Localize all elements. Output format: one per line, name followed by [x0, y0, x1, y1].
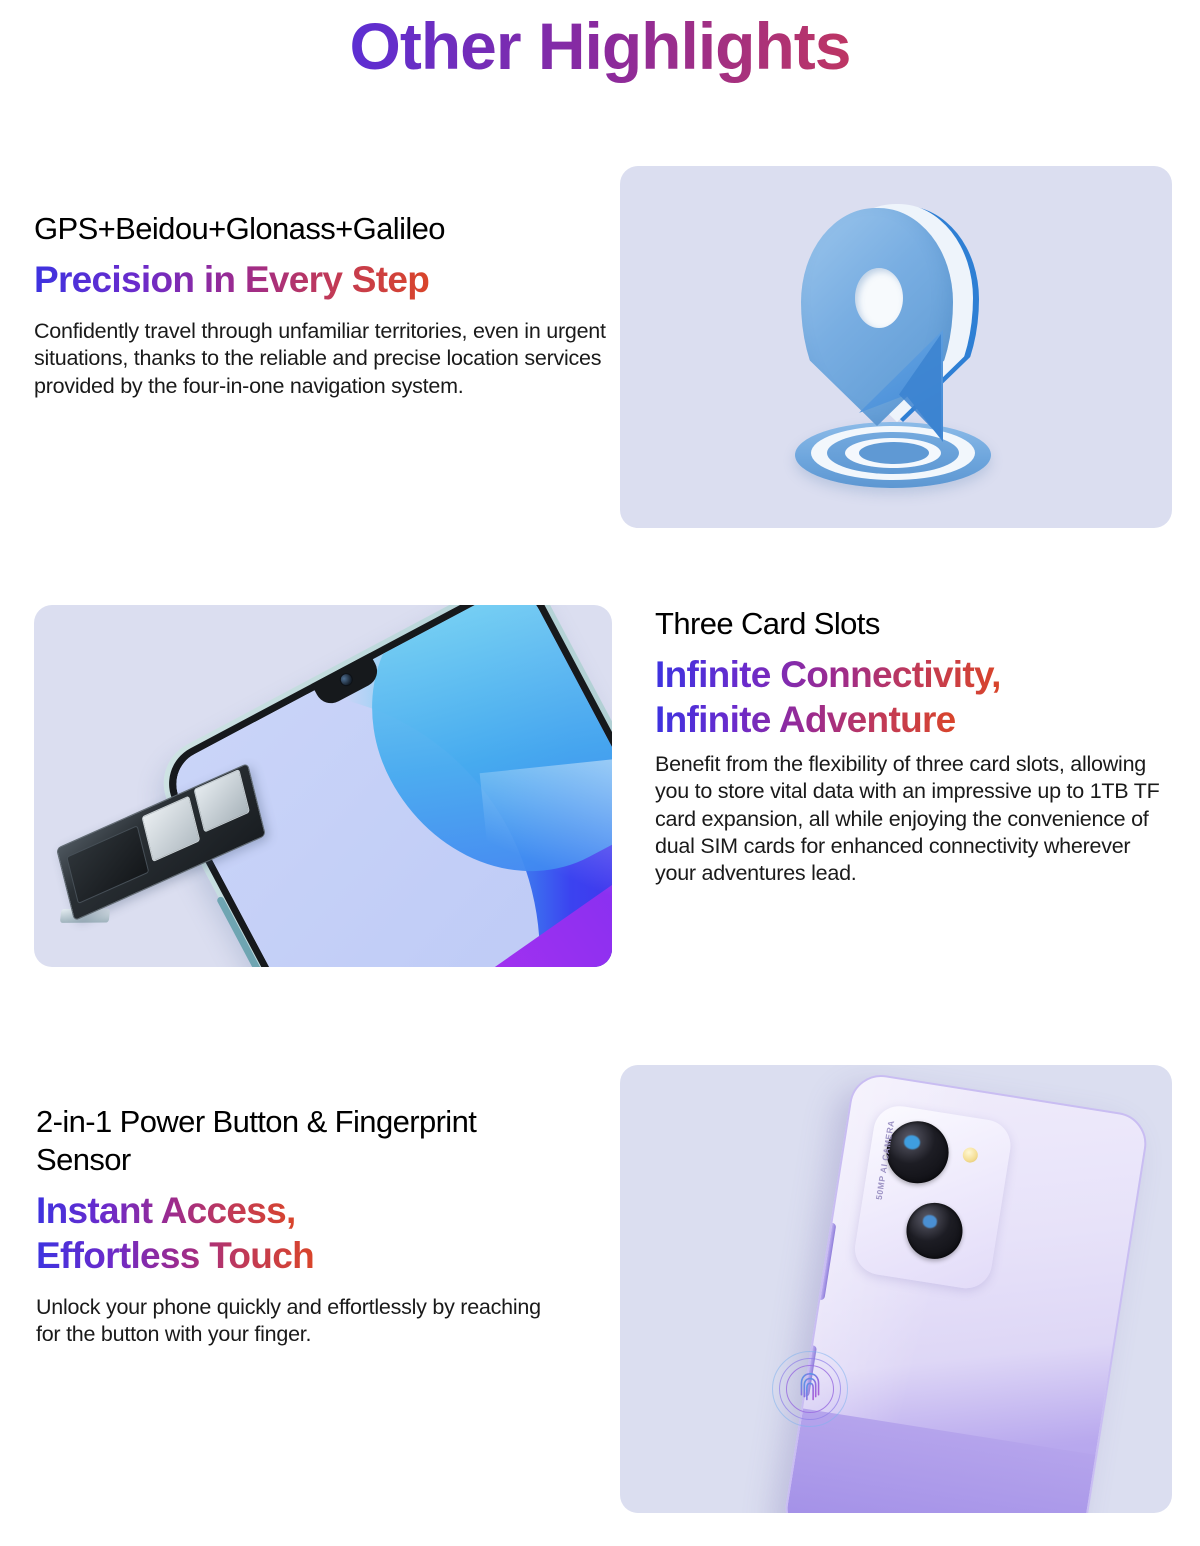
led-flash-icon [962, 1146, 979, 1163]
fingerprint-icon [772, 1351, 848, 1427]
gps-body-text: Confidently travel through unfamiliar te… [34, 318, 614, 400]
gps-text-block: GPS+Beidou+Glonass+Galileo Precision in … [34, 210, 614, 400]
sim-body-text: Benefit from the flexibility of three ca… [655, 751, 1175, 887]
gps-eyebrow: GPS+Beidou+Glonass+Galileo [34, 210, 614, 248]
fingerprint-glyph [791, 1370, 829, 1408]
sim-tray-illustration [34, 605, 612, 967]
gps-pin-illustration [620, 166, 1172, 528]
fingerprint-body-text: Unlock your phone quickly and effortless… [36, 1294, 556, 1349]
fingerprint-eyebrow: 2-in-1 Power Button & Fingerprint Sensor [36, 1103, 556, 1179]
fingerprint-headline-line-2: Effortless Touch [36, 1233, 314, 1278]
sim-headline-line-2: Infinite Adventure [655, 697, 956, 742]
phone-rear-device: 50MP AI CAMERA [781, 1070, 1151, 1513]
fingerprint-headline-line-1: Instant Access, [36, 1188, 296, 1233]
sim-headline-line-1: Infinite Connectivity, [655, 652, 1001, 697]
camera-island: 50MP AI CAMERA [851, 1102, 1014, 1291]
secondary-camera-lens-icon [902, 1199, 966, 1263]
map-pin-icon [781, 202, 1011, 492]
front-camera-icon [337, 671, 355, 689]
pin-base-center [859, 442, 929, 464]
pin-hole [855, 268, 903, 328]
fingerprint-sensor-illustration: 50MP AI CAMERA [620, 1065, 1172, 1513]
fingerprint-text-block: 2-in-1 Power Button & Fingerprint Sensor… [36, 1103, 556, 1348]
lens-glint-secondary [922, 1214, 938, 1228]
sim-text-block: Three Card Slots Infinite Connectivity, … [655, 605, 1175, 888]
sim-eyebrow: Three Card Slots [655, 605, 1175, 643]
page-title: Other Highlights [0, 8, 1200, 84]
gps-headline-line-1: Precision in Every Step [34, 257, 429, 302]
lens-glint [903, 1134, 921, 1150]
wallpaper-gloss [480, 753, 612, 958]
